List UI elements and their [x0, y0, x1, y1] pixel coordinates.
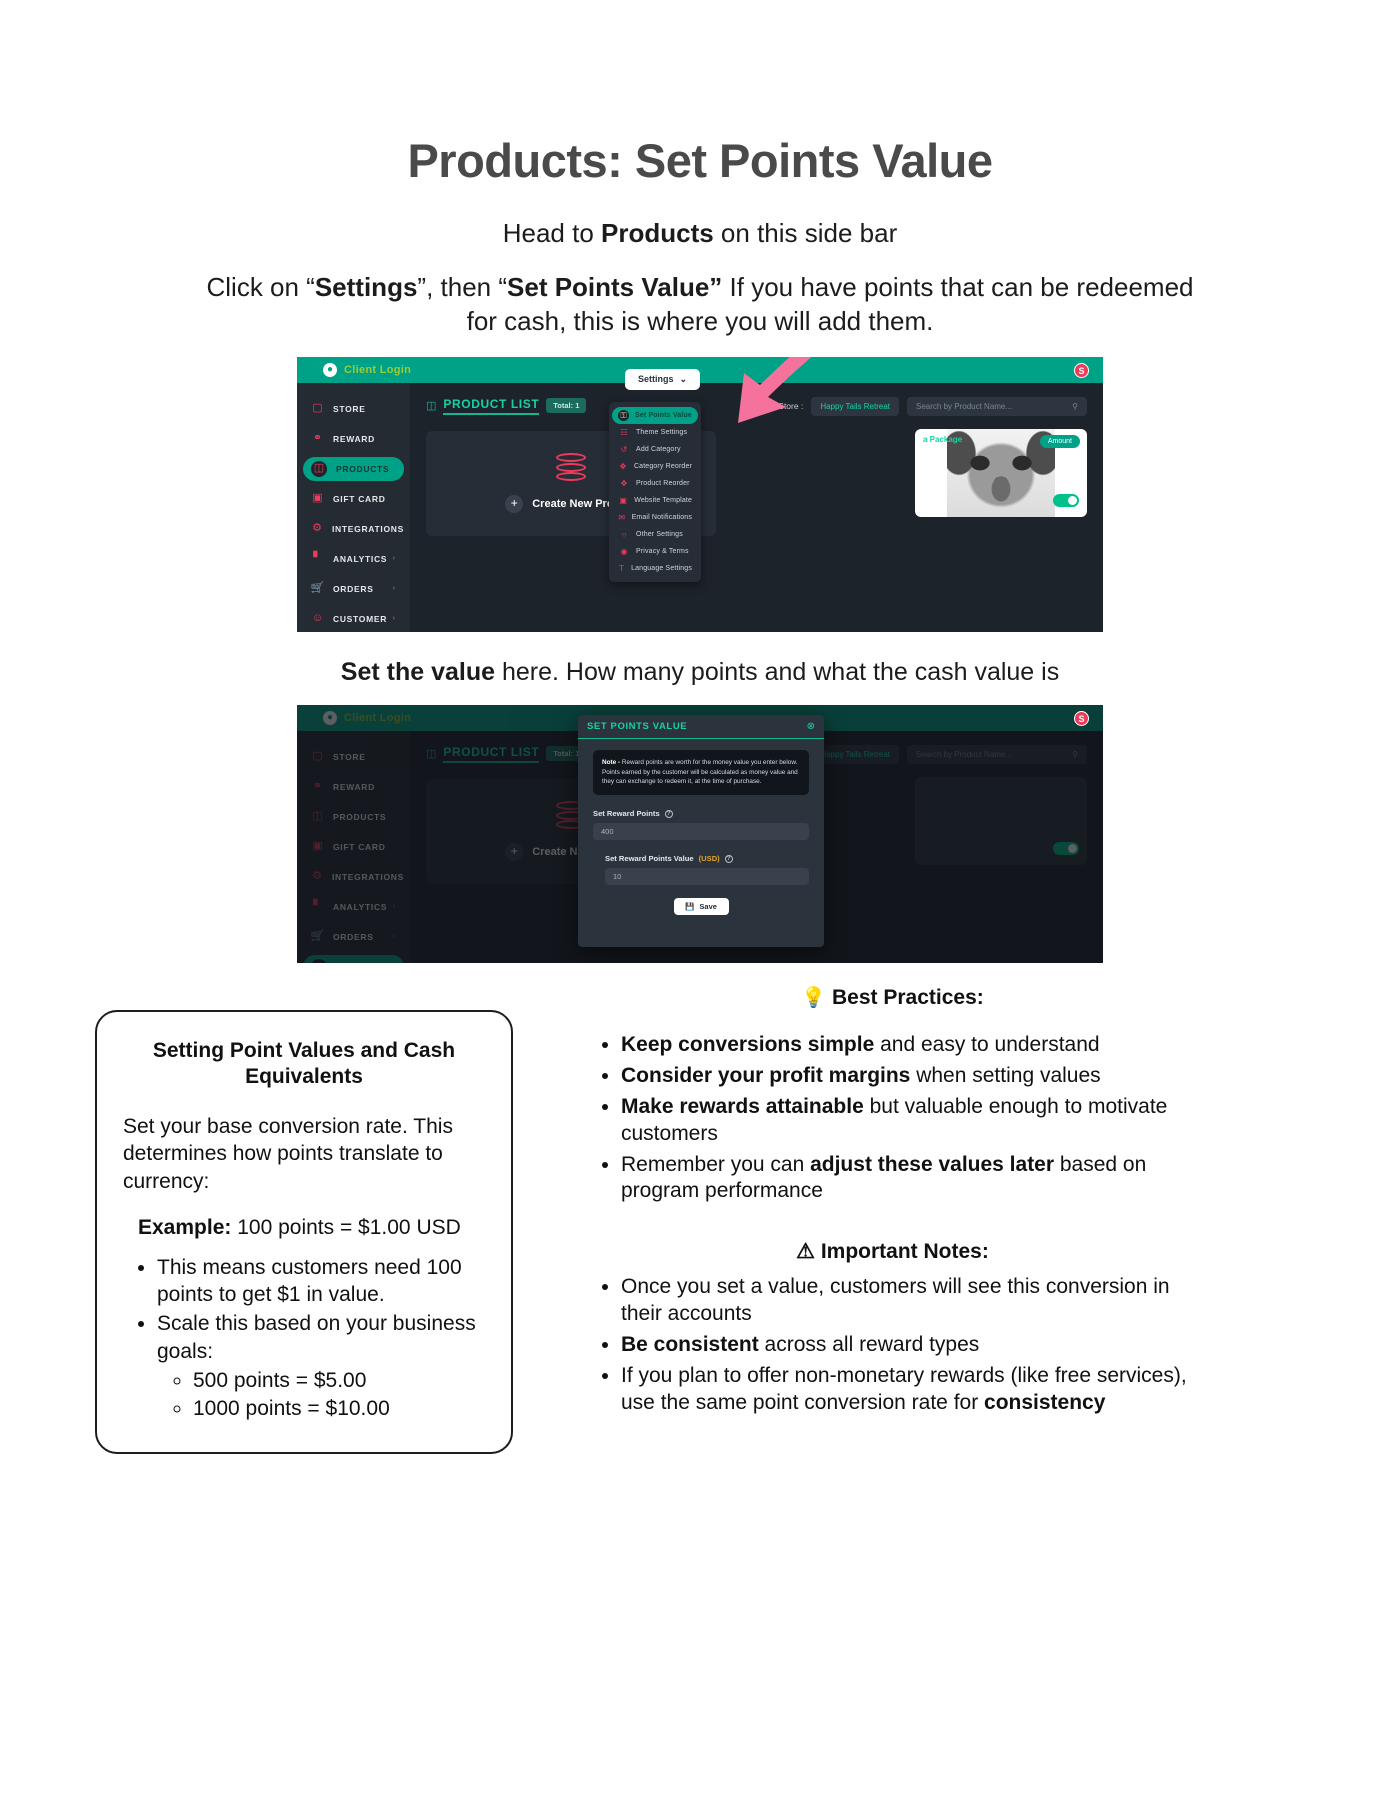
client-login-label: Client Login	[344, 364, 411, 376]
menu-item-other-settings[interactable]: ○ Other Settings	[612, 526, 698, 543]
medal-icon: ⚭	[311, 432, 324, 445]
list-icon: ◫	[426, 747, 436, 760]
save-icon: 💾	[685, 902, 694, 911]
sidebar-item-label: PRODUCTS	[336, 464, 389, 474]
instruction-bold-settings: Settings	[315, 272, 418, 302]
sidebar-item-integrations[interactable]: ⚙ INTEGRATIONS	[303, 517, 404, 541]
list-item-text: across all reward types	[759, 1333, 980, 1356]
sidebar-item-label: ORDERS	[333, 932, 374, 942]
product-toggle[interactable]	[1053, 494, 1079, 507]
grid-icon: ☷	[618, 428, 630, 437]
avatar[interactable]: S	[1074, 711, 1089, 726]
reward-points-label-text: Set Reward Points	[593, 809, 660, 818]
page-title: Products: Set Points Value	[0, 133, 1400, 188]
chevron-down-icon: ⌄	[680, 374, 688, 385]
sidebar-item-store[interactable]: ▢ STORE	[303, 745, 404, 769]
list-item-text: when setting values	[910, 1064, 1100, 1087]
menu-item-label: Other Settings	[636, 531, 683, 538]
sidebar-item-analytics[interactable]: ▘ ANALYTICS ›	[303, 547, 404, 571]
modal-body: Note - Reward points are worth for the m…	[578, 739, 824, 916]
database-icon: ◫	[311, 461, 327, 477]
best-practices-heading: 💡 Best Practices:	[585, 985, 1200, 1010]
example-label: Example:	[138, 1216, 231, 1239]
sidebar-item-gift-card[interactable]: ▣ GIFT CARD	[303, 487, 404, 511]
layout-icon: ▣	[618, 496, 628, 505]
modal-header: SET POINTS VALUE ⊗	[578, 715, 824, 739]
users-icon: ☺	[311, 612, 324, 625]
store-label: Store :	[778, 401, 803, 411]
instruction-bold-setpoints: Set Points Value”	[507, 272, 722, 302]
best-practices-heading-text: Best Practices:	[832, 986, 984, 1009]
reward-points-value-input[interactable]: 10	[605, 868, 809, 885]
sidebar-item-store[interactable]: ▢ STORE	[303, 397, 404, 421]
store-icon: ▢	[311, 750, 324, 763]
store-selector-row: Store : Happy Tails Retreat Search by Pr…	[778, 397, 1087, 416]
sidebar-item-reward[interactable]: ⚭ REWARD	[303, 427, 404, 451]
menu-item-category-reorder[interactable]: ✥ Category Reorder	[612, 458, 698, 475]
subtitle-post: on this side bar	[714, 218, 898, 248]
key-icon: ⚿	[618, 410, 629, 421]
total-badge: Total: 1	[546, 398, 586, 413]
sidebar-item-gift-card[interactable]: ▣ GIFT CARD	[303, 835, 404, 859]
save-button[interactable]: 💾 Save	[674, 898, 729, 915]
list-item: Remember you can adjust these values lat…	[621, 1152, 1200, 1206]
app-sidebar-dimmed: ▢ STORE ⚭ REWARD ◫ PRODUCTS ▣ GIFT CARD …	[297, 731, 410, 963]
currency-label: (USD)	[699, 854, 720, 863]
sidebar-item-label: GIFT CARD	[333, 842, 386, 852]
sidebar-item-orders[interactable]: 🛒 ORDERS ›	[303, 577, 404, 601]
list-item: 1000 points = $10.00	[193, 1395, 485, 1423]
instruction-part-1: Click on “	[206, 272, 314, 302]
box-title: Setting Point Values and Cash Equivalent…	[123, 1038, 485, 1091]
store-icon: ▢	[311, 402, 324, 415]
right-column: 💡 Best Practices: Keep conversions simpl…	[560, 985, 1200, 1454]
database-icon	[556, 453, 586, 483]
modal-note: Note - Reward points are worth for the m…	[593, 750, 809, 796]
menu-item-label: Add Category	[636, 446, 681, 453]
database-icon: ◫	[311, 810, 324, 823]
chevron-right-icon: ›	[393, 555, 395, 562]
mid-caption: Set the value here. How many points and …	[0, 658, 1400, 687]
modal-title: SET POINTS VALUE	[587, 721, 687, 732]
menu-item-label: Theme Settings	[636, 429, 687, 436]
box-paragraph: Set your base conversion rate. This dete…	[123, 1113, 485, 1196]
warning-icon: ⚠	[796, 1240, 815, 1263]
sidebar-item-label: INTEGRATIONS	[332, 872, 404, 882]
bar-chart-icon: ▘	[311, 552, 324, 565]
settings-button-label: Settings	[638, 374, 674, 384]
close-circle-icon[interactable]: ⊗	[807, 721, 815, 732]
avatar[interactable]: S	[1074, 363, 1089, 378]
menu-item-add-category[interactable]: ↺ Add Category	[612, 441, 698, 458]
list-item-text: and easy to understand	[874, 1033, 1099, 1056]
app-screenshot-set-points-modal: ● Client Login S ▢ STORE ⚭ REWARD ◫ PROD…	[297, 705, 1103, 963]
list-item: Once you set a value, customers will see…	[621, 1274, 1200, 1328]
product-amount-badge[interactable]: Amount	[1040, 435, 1080, 448]
subtitle-pre: Head to	[503, 218, 601, 248]
sidebar-item-orders[interactable]: 🛒 ORDERS ›	[303, 925, 404, 949]
example-value: 100 points = $1.00 USD	[231, 1216, 460, 1239]
app-sidebar: ▢ STORE ⚭ REWARD ◫ PRODUCTS ▣ GIFT CARD …	[297, 383, 410, 632]
box-bullet-list: This means customers need 100 points to …	[123, 1254, 485, 1423]
sidebar-item-analytics[interactable]: ▘ ANALYTICS ›	[303, 895, 404, 919]
search-input[interactable]: Search by Product Name... ⚲	[907, 397, 1087, 416]
search-placeholder: Search by Product Name...	[916, 750, 1012, 759]
gear-icon: ⚙	[311, 870, 323, 883]
menu-item-language-settings[interactable]: T Language Settings	[612, 560, 698, 577]
question-icon[interactable]: ?	[725, 855, 733, 863]
menu-item-theme-settings[interactable]: ☷ Theme Settings	[612, 424, 698, 441]
sidebar-item-label: STORE	[333, 752, 366, 762]
note-text: Reward points are worth for the money va…	[602, 759, 798, 786]
search-icon: ⚲	[1072, 750, 1078, 759]
sidebar-item-products[interactable]: ◫ PRODUCTS	[303, 457, 404, 481]
menu-item-label: Privacy & Terms	[636, 548, 689, 555]
search-input[interactable]: Search by Product Name... ⚲	[907, 745, 1087, 764]
plus-icon: +	[505, 495, 523, 513]
lightbulb-icon: 💡	[801, 987, 826, 1009]
menu-item-product-reorder[interactable]: ✥ Product Reorder	[612, 475, 698, 492]
sidebar-item-label: ANALYTICS	[333, 554, 387, 564]
dog-photo	[947, 429, 1055, 517]
list-item: Make rewards attainable but valuable eno…	[621, 1094, 1200, 1148]
menu-item-label: Email Notifications	[632, 514, 692, 521]
sidebar-item-label: REWARD	[333, 434, 375, 444]
sidebar-item-label: REWARD	[333, 782, 375, 792]
search-icon: ⚲	[1072, 402, 1078, 411]
setting-point-values-box: Setting Point Values and Cash Equivalent…	[95, 1010, 513, 1454]
list-item-bold: Make rewards attainable	[621, 1095, 864, 1118]
menu-item-label: Language Settings	[631, 565, 692, 572]
product-card-title: a Package	[923, 435, 962, 444]
menu-item-label: Set Points Value	[635, 412, 692, 419]
reward-points-value-value: 10	[613, 872, 621, 881]
product-card[interactable]	[915, 777, 1087, 865]
mail-icon: ✉	[618, 513, 626, 522]
store-selector-row: Store : Happy Tails Retreat Search by Pr…	[778, 745, 1087, 764]
store-value-pill[interactable]: Happy Tails Retreat	[811, 397, 899, 416]
list-item-bold: Consider your profit margins	[621, 1064, 910, 1087]
box-sub-bullet-list: 500 points = $5.00 1000 points = $10.00	[157, 1367, 485, 1422]
sidebar-item-reward[interactable]: ⚭ REWARD	[303, 775, 404, 799]
subtitle-bold: Products	[601, 218, 714, 248]
chevron-right-icon: ›	[393, 933, 395, 940]
product-card[interactable]: a Package Amount	[915, 429, 1087, 517]
question-icon[interactable]: ?	[665, 810, 673, 818]
list-item-text: Once you set a value, customers will see…	[621, 1275, 1170, 1325]
sidebar-item-label: CUSTOMER	[333, 614, 387, 624]
set-points-value-modal[interactable]: SET POINTS VALUE ⊗ Note - Reward points …	[578, 715, 824, 947]
move-icon: ✥	[618, 462, 628, 471]
bottom-columns: Setting Point Values and Cash Equivalent…	[0, 985, 1400, 1454]
left-column: Setting Point Values and Cash Equivalent…	[0, 985, 560, 1454]
sidebar-item-customer[interactable]: ☺ CUSTOMER ›	[303, 955, 404, 963]
menu-item-privacy-terms[interactable]: ◉ Privacy & Terms	[612, 543, 698, 560]
list-item-bold: Be consistent	[621, 1333, 759, 1356]
list-item: Consider your profit margins when settin…	[621, 1063, 1200, 1090]
app-screenshot-products-list: ● Client Login S ▢ STORE ⚭ REWARD ◫ PROD…	[297, 357, 1103, 632]
sidebar-item-label: PRODUCTS	[333, 812, 386, 822]
giftcard-icon: ▣	[311, 492, 324, 505]
save-button-label: Save	[699, 902, 717, 911]
sidebar-item-label: ANALYTICS	[333, 902, 387, 912]
chevron-right-icon: ›	[393, 615, 395, 622]
sidebar-item-label: GIFT CARD	[333, 494, 386, 504]
cart-icon: 🛒	[311, 582, 324, 595]
list-item: Scale this based on your business goals:…	[157, 1310, 485, 1422]
settings-dropdown-menu[interactable]: ⚿ Set Points Value ☷ Theme Settings ↺ Ad…	[609, 402, 701, 582]
important-notes-list: Once you set a value, customers will see…	[585, 1274, 1200, 1416]
gear-icon: ⚙	[311, 522, 323, 535]
reward-points-value-label: Set Reward Points Value (USD) ?	[605, 854, 809, 863]
giftcard-icon: ▣	[311, 840, 324, 853]
list-item-bold: Keep conversions simple	[621, 1033, 874, 1056]
circle-icon: ○	[618, 530, 630, 539]
mid-caption-rest: here. How many points and what the cash …	[495, 658, 1059, 686]
text-icon: T	[618, 564, 625, 573]
reward-points-label: Set Reward Points ?	[593, 809, 809, 818]
refresh-icon: ↺	[618, 445, 630, 454]
sidebar-item-customer[interactable]: ☺ CUSTOMER ›	[303, 607, 404, 631]
menu-item-set-points-value[interactable]: ⚿ Set Points Value	[612, 407, 698, 424]
breadcrumb-label: PRODUCT LIST	[443, 745, 539, 763]
reward-points-value: 400	[601, 827, 614, 836]
sidebar-item-label: STORE	[333, 404, 366, 414]
menu-item-label: Product Reorder	[636, 480, 690, 487]
list-item-text: Scale this based on your business goals:	[157, 1312, 476, 1362]
store-value-pill[interactable]: Happy Tails Retreat	[811, 745, 899, 764]
cart-icon: 🛒	[311, 930, 324, 943]
sidebar-item-integrations[interactable]: ⚙ INTEGRATIONS	[303, 865, 404, 889]
important-notes-heading: ⚠ Important Notes:	[585, 1239, 1200, 1264]
list-item-bold: adjust these values later	[810, 1153, 1054, 1176]
user-circle-icon: ●	[323, 363, 337, 377]
menu-item-label: Category Reorder	[634, 463, 692, 470]
list-item: Be consistent across all reward types	[621, 1332, 1200, 1359]
list-item-bold: consistency	[984, 1391, 1105, 1414]
sidebar-item-products[interactable]: ◫ PRODUCTS	[303, 805, 404, 829]
plus-icon: +	[505, 843, 523, 861]
instruction-part-2: ”, then “	[417, 272, 507, 302]
note-bold: Note -	[602, 759, 620, 766]
reward-points-input[interactable]: 400	[593, 823, 809, 840]
list-item-pre: Remember you can	[621, 1153, 810, 1176]
search-placeholder: Search by Product Name...	[916, 402, 1012, 411]
app-content: ◫ PRODUCT LIST Total: 1 Store : Happy Ta…	[410, 383, 1103, 632]
box-example: Example: 100 points = $1.00 USD	[123, 1216, 485, 1240]
medal-icon: ⚭	[311, 780, 324, 793]
users-icon: ☺	[311, 959, 327, 963]
sidebar-item-label: INTEGRATIONS	[332, 524, 404, 534]
mid-caption-bold: Set the value	[341, 658, 495, 686]
list-item: 500 points = $5.00	[193, 1367, 485, 1395]
page-root: Products: Set Points Value Head to Produ…	[0, 0, 1400, 1812]
chevron-right-icon: ›	[393, 585, 395, 592]
menu-item-email-notifications[interactable]: ✉ Email Notifications	[612, 509, 698, 526]
sidebar-item-label: CUSTOMER	[336, 962, 390, 963]
shield-icon: ◉	[618, 547, 630, 556]
list-item: This means customers need 100 points to …	[157, 1254, 485, 1309]
list-item: Keep conversions simple and easy to unde…	[621, 1032, 1200, 1059]
page-subtitle: Head to Products on this side bar	[0, 218, 1400, 249]
reward-points-value-label-text: Set Reward Points Value	[605, 854, 694, 863]
chevron-right-icon: ›	[393, 903, 395, 910]
important-notes-heading-text: Important Notes:	[821, 1240, 989, 1263]
menu-item-website-template[interactable]: ▣ Website Template	[612, 492, 698, 509]
best-practices-list: Keep conversions simple and easy to unde…	[585, 1032, 1200, 1205]
breadcrumb-label: PRODUCT LIST	[443, 397, 539, 415]
move-icon: ✥	[618, 479, 630, 488]
menu-item-label: Website Template	[634, 497, 692, 504]
list-icon: ◫	[426, 399, 436, 412]
bar-chart-icon: ▘	[311, 900, 324, 913]
list-item: If you plan to offer non-monetary reward…	[621, 1363, 1200, 1417]
product-toggle[interactable]	[1053, 842, 1079, 855]
page-instruction: Click on “Settings”, then “Set Points Va…	[0, 271, 1400, 339]
sidebar-item-label: ORDERS	[333, 584, 374, 594]
settings-button[interactable]: Settings ⌄	[625, 369, 700, 390]
